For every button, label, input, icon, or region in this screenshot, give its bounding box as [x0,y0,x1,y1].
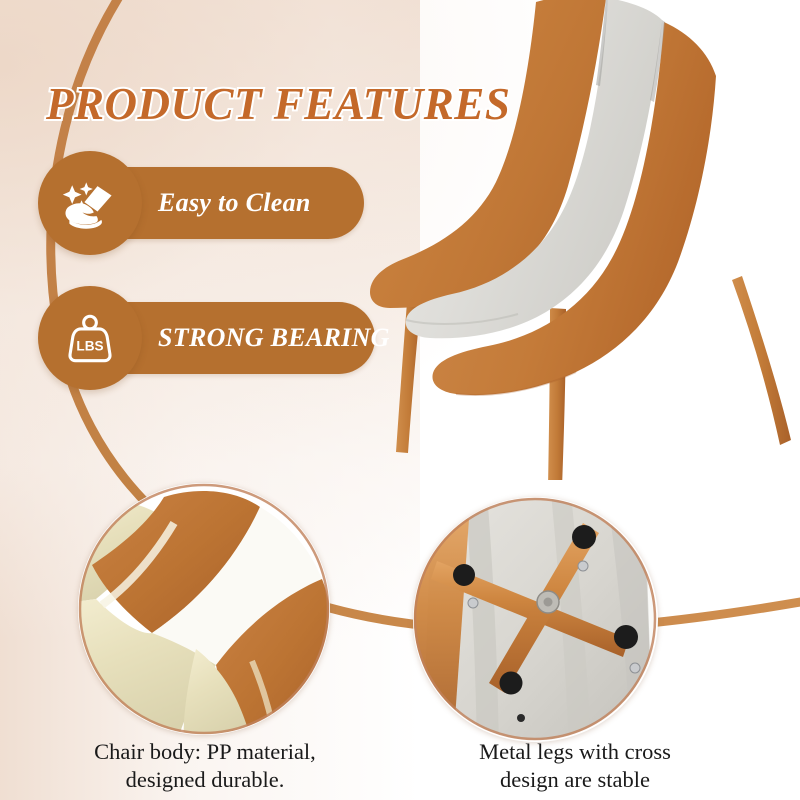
caption-metal-legs: Metal legs with cross design are stable [400,738,750,795]
infographic-canvas: PRODUCT FEATURES [0,0,800,800]
detail-disc-legs [413,497,658,742]
hand-with-sponge-sparkle-icon [38,151,142,255]
weight-lbs-icon: LBS [38,286,142,390]
feature-label-strong-bearing: STRONG BEARING [158,323,390,353]
chair-body-closeup-image [78,483,330,735]
page-title: PRODUCT FEATURES [46,78,510,130]
detail-disc-body [78,483,330,735]
weight-icon-text: LBS [76,339,103,354]
feature-label-easy-to-clean: Easy to Clean [158,188,311,218]
product-chair-image [360,0,800,480]
caption-chair-body: Chair body: PP material, designed durabl… [30,738,380,795]
metal-legs-closeup-image [413,497,658,742]
